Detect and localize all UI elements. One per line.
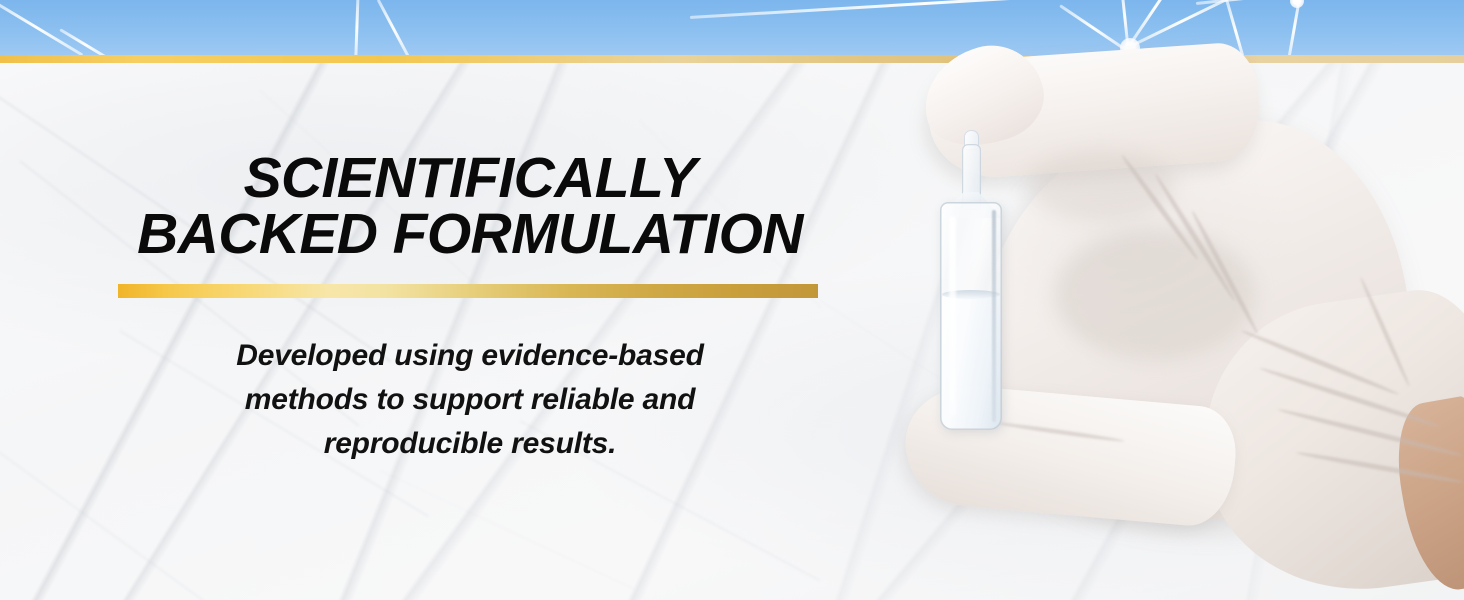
thumb-shadow — [1025, 150, 1175, 220]
ampoule-highlight — [949, 216, 956, 416]
subheading-line-2: methods to support reliable and — [0, 378, 940, 422]
headline-line-2: BACKED FORMULATION — [0, 206, 940, 262]
network-line — [354, 0, 359, 56]
page-title: SCIENTIFICALLY BACKED FORMULATION — [0, 150, 940, 262]
subheading-line-3: reproducible results. — [0, 422, 940, 466]
text-column: SCIENTIFICALLY BACKED FORMULATION Develo… — [0, 150, 940, 466]
network-line — [59, 28, 112, 56]
subheading-line-1: Developed using evidence-based — [0, 334, 940, 378]
subheading: Developed using evidence-based methods t… — [0, 334, 940, 466]
gold-divider-bar — [118, 284, 818, 298]
ampoule-edge-shading — [992, 210, 996, 422]
network-line — [0, 0, 83, 56]
product-feature-banner: SCIENTIFICALLY BACKED FORMULATION Develo… — [0, 0, 1464, 600]
gloved-hand-with-ampoule-image — [905, 0, 1464, 600]
network-line — [377, 0, 411, 56]
glass-ampoule — [940, 130, 1002, 430]
palm-shadow — [1055, 230, 1255, 360]
headline-line-1: SCIENTIFICALLY — [244, 146, 697, 210]
